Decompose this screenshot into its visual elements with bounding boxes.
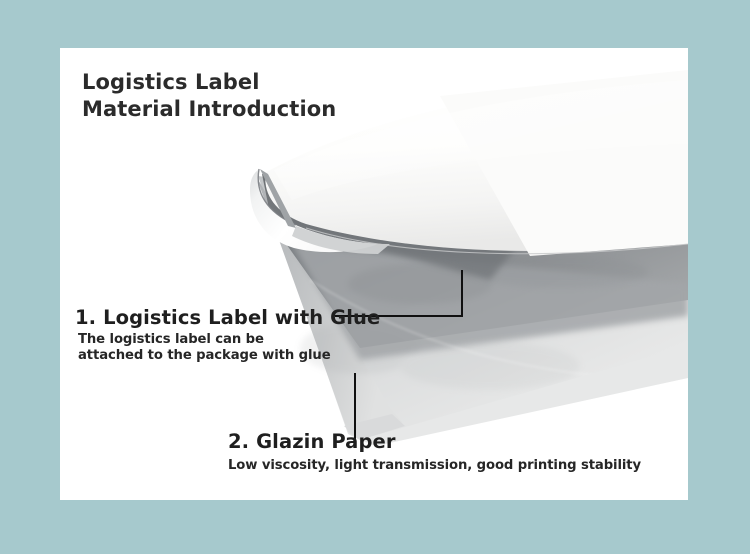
callout-1-title: 1. Logistics Label with Glue [75, 306, 380, 329]
label-top-sheet-right [440, 70, 688, 256]
page-title-line-2: Material Introduction [82, 96, 336, 123]
label-adhesive-underside [292, 226, 390, 254]
callout-2-description: Low viscosity, light transmission, good … [228, 458, 641, 474]
label-fold-edge [258, 169, 296, 225]
label-contact-line [306, 228, 688, 254]
glazin-taper [360, 346, 688, 446]
screenshot-root: Logistics Label Material Introduction 1.… [0, 0, 750, 554]
callout-1-description-line-2: attached to the package with glue [78, 348, 331, 364]
callout-2-title: 2. Glazin Paper [228, 430, 396, 453]
shadow-falloff [292, 244, 688, 360]
page-title: Logistics Label Material Introduction [82, 69, 336, 124]
shadow-core [274, 198, 530, 280]
label-left-thickness [260, 169, 296, 228]
page-title-line-1: Logistics Label [82, 69, 336, 96]
callout-1-description-line-1: The logistics label can be [78, 332, 331, 348]
callout-2-description-line-1: Low viscosity, light transmission, good … [228, 458, 641, 474]
label-curl-flap [250, 170, 378, 252]
glazin-crease [310, 280, 620, 378]
callout-1-description: The logistics label can be attached to t… [78, 332, 331, 364]
content-card: Logistics Label Material Introduction 1.… [60, 48, 688, 500]
